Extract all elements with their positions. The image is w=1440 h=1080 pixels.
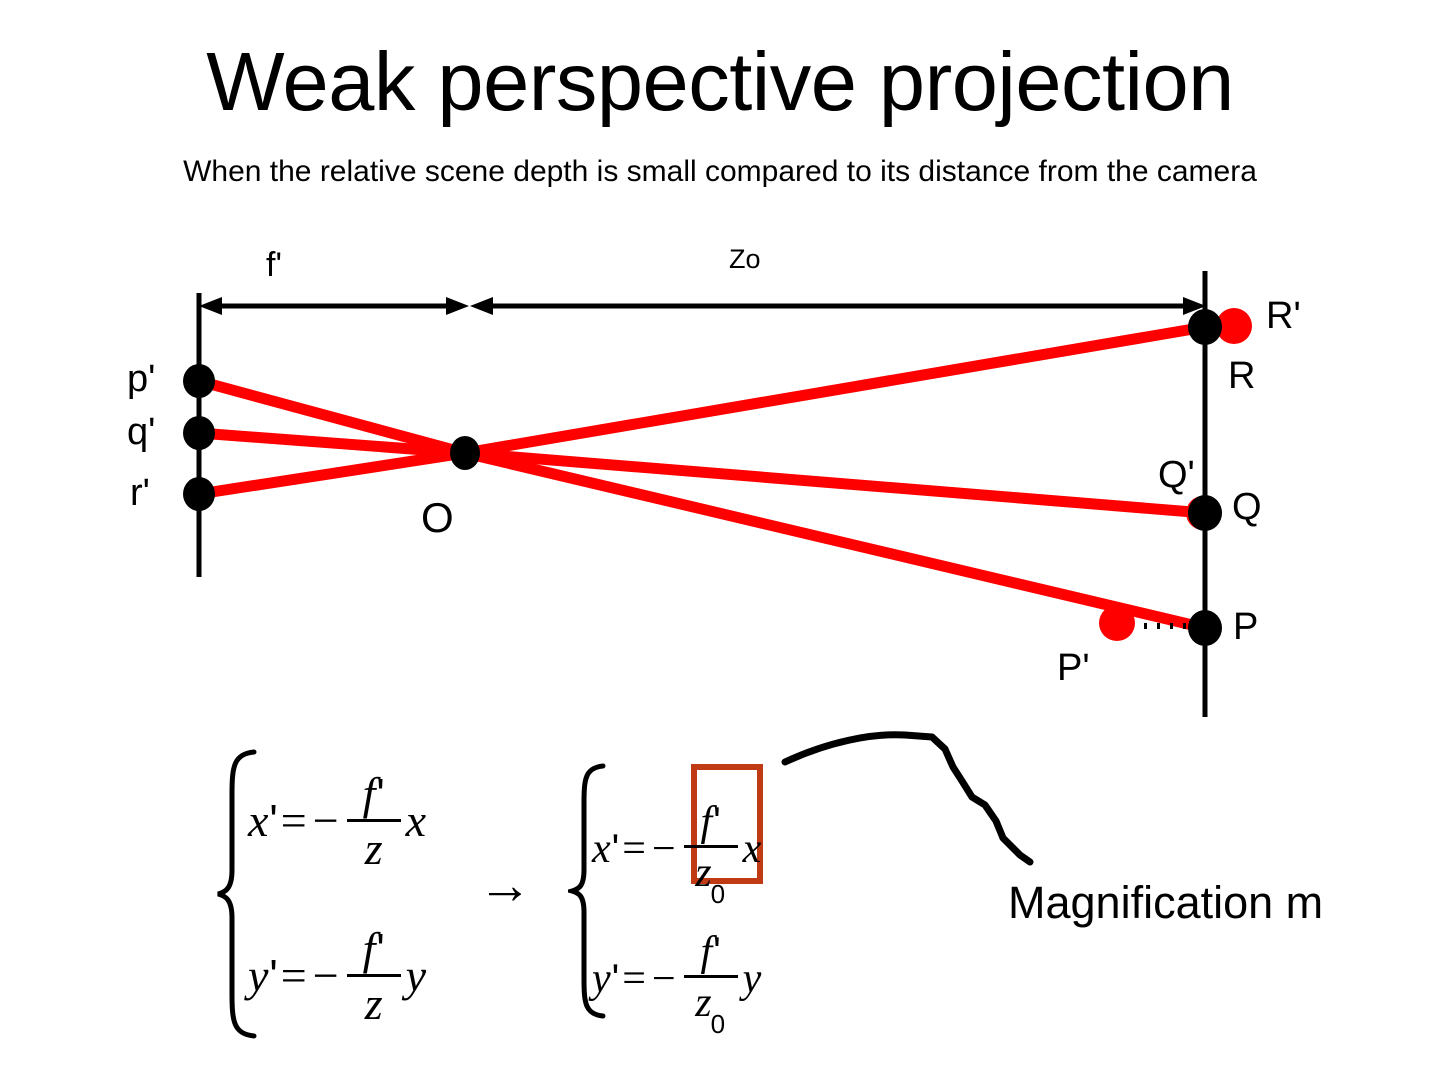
- label-scene-point-P: P: [1233, 608, 1258, 646]
- eq-weak-x-minus: −: [649, 825, 679, 873]
- label-image-point-r: r': [130, 474, 150, 512]
- equation-exact-y: y' = − f' z y: [248, 925, 426, 1027]
- eq-exact-y-lhs-prime: ': [269, 951, 277, 1001]
- eq-weak-x-denominator-subscript: 0: [711, 879, 725, 909]
- eq-weak-x-lhs-prime: ': [612, 827, 620, 872]
- transition-arrow-icon: →: [478, 858, 532, 912]
- eq-exact-x-minus: −: [310, 794, 342, 847]
- eq-exact-x-lhs: x: [248, 794, 268, 847]
- eq-weak-x-numerator: f: [701, 799, 713, 845]
- scene-depth-arrow: [470, 297, 1206, 315]
- ray-O-to-P: [465, 453, 1205, 628]
- label-scene-point-Q: Q: [1232, 488, 1262, 526]
- magnification-annotation: Magnification m: [1008, 880, 1323, 925]
- ray-q-prime-to-O: [199, 433, 465, 453]
- ray-O-to-Q: [465, 453, 1205, 513]
- point-P-prime: [1099, 605, 1135, 641]
- eq-exact-y-fraction: f' z: [347, 925, 401, 1027]
- eq-weak-x-denominator: z: [695, 850, 711, 896]
- eq-weak-x-lhs: x: [592, 825, 611, 873]
- label-projected-point-Q: Q': [1158, 456, 1195, 494]
- point-P: [1188, 610, 1222, 646]
- eq-exact-y-numerator-prime: ': [376, 925, 384, 974]
- label-optical-center: O: [421, 497, 454, 539]
- eq-exact-y-equals: =: [278, 949, 310, 1002]
- eq-weak-y-equals: =: [619, 955, 649, 1003]
- eq-weak-y-minus: −: [649, 955, 679, 1003]
- annotation-pointer-curve: [785, 735, 1030, 862]
- eq-weak-y-denominator-subscript: 0: [711, 1009, 725, 1039]
- point-optical-center-O: [450, 436, 480, 470]
- eq-exact-x-numerator-prime: ': [376, 770, 384, 819]
- eq-exact-y-minus: −: [310, 949, 342, 1002]
- ray-p-prime-to-O: [199, 381, 465, 453]
- eq-weak-y-denominator: z: [695, 980, 711, 1026]
- point-q-prime: [183, 416, 215, 450]
- eq-weak-y-fraction: f' z0: [684, 930, 738, 1029]
- eq-weak-x-equals: =: [619, 825, 649, 873]
- point-p-prime: [183, 364, 215, 398]
- eq-exact-x-denominator: z: [365, 823, 383, 874]
- point-Q-prime: [1186, 496, 1220, 530]
- label-projected-point-R: R': [1266, 297, 1301, 335]
- label-scene-depth: Zo: [729, 246, 761, 273]
- label-image-point-q: q': [127, 413, 155, 451]
- label-scene-point-R: R: [1228, 357, 1255, 395]
- page-title: Weak perspective projection: [0, 38, 1440, 125]
- eq-exact-x-equals: =: [278, 794, 310, 847]
- eq-weak-y-lhs: y: [592, 955, 611, 1003]
- equation-exact-x: x' = − f' z x: [248, 770, 426, 872]
- eq-weak-y-numerator-prime: ': [713, 930, 721, 974]
- eq-exact-x-numerator: f: [363, 768, 376, 819]
- point-R: [1188, 309, 1222, 345]
- point-Q: [1188, 495, 1222, 531]
- eq-weak-y-variable: y: [743, 955, 762, 1003]
- eq-exact-x-fraction: f' z: [347, 770, 401, 872]
- eq-exact-x-variable: x: [406, 794, 426, 847]
- eq-exact-x-lhs-prime: ': [269, 796, 277, 846]
- eq-exact-y-lhs: y: [248, 949, 268, 1002]
- page-subtitle: When the relative scene depth is small c…: [0, 155, 1440, 188]
- point-r-prime: [183, 477, 215, 511]
- eq-weak-y-numerator: f: [701, 929, 713, 975]
- ray-O-to-R: [465, 327, 1205, 453]
- eq-weak-y-lhs-prime: ': [612, 957, 620, 1002]
- label-projected-point-P: P': [1057, 649, 1090, 687]
- label-image-point-p: p': [127, 360, 155, 398]
- eq-exact-y-denominator: z: [365, 978, 383, 1029]
- eq-exact-y-numerator: f: [363, 923, 376, 974]
- point-R-prime: [1216, 308, 1252, 344]
- eq-weak-x-fraction: f' z0: [684, 800, 738, 899]
- eq-weak-x-variable: x: [743, 825, 762, 873]
- eq-exact-y-variable: y: [406, 949, 426, 1002]
- projection-rays: [199, 327, 1205, 628]
- label-focal-length: f': [266, 248, 282, 282]
- equation-weak-y: y' = − f' z0 y: [592, 930, 761, 1029]
- eq-weak-x-numerator-prime: ': [713, 800, 721, 844]
- ray-r-prime-to-O: [199, 453, 465, 494]
- slide-canvas: Weak perspective projection When the rel…: [0, 0, 1440, 1080]
- equation-weak-x: x' = − f' z0 x: [592, 800, 761, 899]
- focal-length-arrow: [199, 297, 469, 315]
